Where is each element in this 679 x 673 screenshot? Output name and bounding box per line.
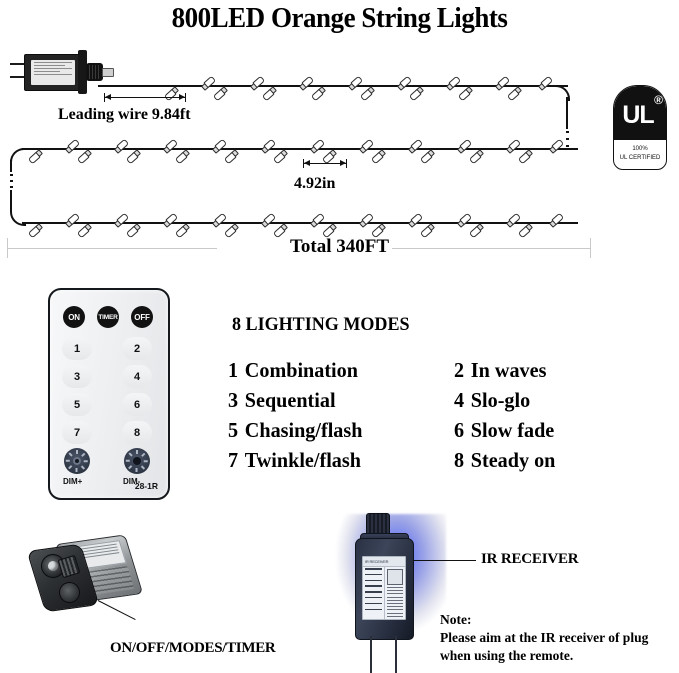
led-bulb-icon [407, 214, 420, 226]
led-bulb-icon [521, 151, 534, 163]
led-bulb-icon [211, 214, 224, 226]
lighting-modes-list: 1Combination 2In waves 3Sequential 4Slo-… [228, 358, 648, 473]
led-bulb-icon [162, 214, 175, 226]
string-wire-row-2 [22, 148, 578, 150]
mode-label: Chasing/flash [245, 418, 363, 442]
lighting-mode-item: 7Twinkle/flash [228, 448, 445, 473]
led-bulb-icon [260, 140, 273, 152]
adapter-threaded-collar [86, 63, 103, 81]
led-bulb-icon [396, 77, 409, 89]
led-bulb-icon [31, 151, 44, 163]
led-bulb-icon [200, 77, 213, 89]
led-bulb-icon [211, 140, 224, 152]
led-bulb-icon [309, 214, 322, 226]
led-bulb-icon [472, 151, 485, 163]
led-bulb-icon [80, 151, 93, 163]
leading-wire-dimension-line [104, 97, 186, 98]
led-bulb-icon [412, 88, 425, 100]
wire-segment-left-lower [10, 190, 12, 212]
mode-label: Slo-glo [471, 388, 530, 412]
mode-number: 7 [228, 448, 238, 472]
led-bulb-icon [216, 88, 229, 100]
adapter-caption: ON/OFF/MODES/TIMER [110, 640, 275, 657]
led-bulb-icon [276, 151, 289, 163]
mode-number: 4 [454, 388, 464, 412]
led-bulb-icon [537, 77, 550, 89]
ir-sticker-mode-list [363, 567, 385, 619]
mode-number: 8 [454, 448, 464, 472]
remote-button-6[interactable]: 6 [122, 393, 152, 416]
ul-badge-certified: UL CERTIFIED [620, 154, 661, 163]
mode-label: Twinkle/flash [245, 448, 361, 472]
adapter-body [24, 54, 82, 91]
mode-number: 3 [228, 388, 238, 412]
mode-label: Combination [245, 358, 358, 382]
led-bulb-icon [325, 151, 338, 163]
led-bulb-icon [309, 140, 322, 152]
remote-button-3[interactable]: 3 [62, 365, 92, 388]
ir-sticker-figure-icon [387, 569, 403, 585]
remote-button-7[interactable]: 7 [62, 421, 92, 444]
string-wire-row-3 [22, 222, 578, 224]
remote-control: ON TIMER OFF 1 2 3 4 5 6 7 8 DIM+ DIM- 2… [48, 288, 170, 500]
remote-button-on[interactable]: ON [63, 306, 85, 328]
remote-model-number: 28-1R [135, 481, 158, 491]
led-bulb-icon [113, 140, 126, 152]
ir-receiver-lead-wire [395, 636, 397, 673]
led-bulb-icon [178, 151, 191, 163]
bulb-spacing-label: 4.92in [294, 175, 335, 193]
led-bulb-icon [358, 214, 371, 226]
led-bulb-icon [374, 151, 387, 163]
led-bulb-icon [456, 140, 469, 152]
led-bulb-icon [358, 140, 371, 152]
mode-label: Sequential [245, 388, 336, 412]
led-bulb-icon [363, 88, 376, 100]
total-length-label: Total 340FT [0, 236, 679, 258]
led-bulb-icon [505, 214, 518, 226]
mode-label: In waves [471, 358, 547, 382]
mode-number: 5 [228, 418, 238, 442]
ul-badge-bottom: 100% UL CERTIFIED [614, 140, 666, 168]
lighting-mode-item: 1Combination [228, 358, 445, 383]
remote-button-dim-down[interactable] [124, 448, 150, 474]
led-bulb-icon [162, 140, 175, 152]
wire-corner-top-left [10, 148, 26, 164]
bulb-spacing-dimension-line [303, 163, 347, 164]
ul-badge-percent: 100% [632, 145, 647, 154]
led-bulb-icon [494, 77, 507, 89]
led-bulb-icon [445, 77, 458, 89]
lighting-mode-item: 6Slow fade [454, 418, 640, 443]
led-bulb-icon [347, 77, 360, 89]
led-bulb-icon [314, 88, 327, 100]
mode-number: 6 [454, 418, 464, 442]
remote-label-dim-up: DIM+ [63, 477, 82, 486]
ir-receiver-lead-wire [370, 636, 372, 673]
lighting-mode-item: 3Sequential [228, 388, 445, 413]
led-bulb-icon [505, 140, 518, 152]
lighting-modes-heading: 8 LIGHTING MODES [232, 314, 410, 336]
ir-sticker-title: IR RECEIVER [365, 559, 388, 564]
mode-label: Slow fade [471, 418, 554, 442]
ul-certification-badge: UL ® 100% UL CERTIFIED [613, 85, 667, 170]
wire-continuation-dots-left [10, 174, 13, 188]
ir-sticker-header: IR RECEIVER [363, 557, 405, 567]
ir-sticker-instructions [385, 567, 405, 619]
remote-button-5[interactable]: 5 [62, 393, 92, 416]
led-bulb-icon [260, 214, 273, 226]
led-bulb-icon [129, 151, 142, 163]
led-bulb-icon [227, 151, 240, 163]
ul-mark-text: UL [622, 103, 653, 128]
wire-continuation-dots-right [566, 131, 569, 147]
leading-wire-label: Leading wire 9.84ft [58, 106, 191, 124]
remote-button-8[interactable]: 8 [122, 421, 152, 444]
wire-segment-left-upper [10, 160, 12, 172]
remote-button-dim-up[interactable] [64, 448, 90, 474]
ir-receiver-note: Note: Please aim at the IR receiver of p… [440, 611, 679, 665]
led-bulb-icon [510, 88, 523, 100]
ir-sticker-columns [363, 567, 405, 619]
led-bulb-icon [249, 77, 262, 89]
ul-badge-top: UL ® [614, 86, 666, 140]
led-bulb-icon [548, 140, 561, 152]
remote-button-2[interactable]: 2 [122, 337, 152, 360]
wire-segment-right-1 [566, 97, 568, 129]
lighting-mode-item: 2In waves [454, 358, 640, 383]
led-bulb-icon [298, 77, 311, 89]
mode-label: Steady on [471, 448, 556, 472]
adapter-photo [30, 530, 150, 625]
led-bulb-icon [265, 88, 278, 100]
mode-number: 2 [454, 358, 464, 382]
led-bulb-icon [548, 214, 561, 226]
led-bulb-icon [461, 88, 474, 100]
led-bulb-icon [407, 140, 420, 152]
adapter-connector-tip [102, 68, 114, 77]
remote-button-4[interactable]: 4 [122, 365, 152, 388]
ir-receiver-leader-line [414, 560, 476, 561]
lighting-mode-item: 8Steady on [454, 448, 640, 473]
lighting-mode-item: 4Slo-glo [454, 388, 640, 413]
registered-trademark-icon: ® [654, 93, 663, 107]
power-adapter-illustration [10, 50, 118, 96]
mode-number: 1 [228, 358, 238, 382]
page-title: 800LED Orange String Lights [24, 2, 655, 35]
led-bulb-icon [167, 88, 180, 100]
led-bulb-icon [64, 140, 77, 152]
ir-receiver-sticker: IR RECEIVER [362, 556, 406, 620]
adapter-spec-label [31, 60, 75, 85]
led-bulb-icon [64, 214, 77, 226]
remote-button-timer[interactable]: TIMER [97, 306, 119, 328]
led-bulb-icon [423, 151, 436, 163]
remote-button-off[interactable]: OFF [131, 306, 153, 328]
ir-receiver-caption: IR RECEIVER [481, 551, 578, 568]
led-bulb-icon [113, 214, 126, 226]
led-bulb-icon [456, 214, 469, 226]
remote-button-1[interactable]: 1 [62, 337, 92, 360]
lighting-mode-item: 5Chasing/flash [228, 418, 445, 443]
